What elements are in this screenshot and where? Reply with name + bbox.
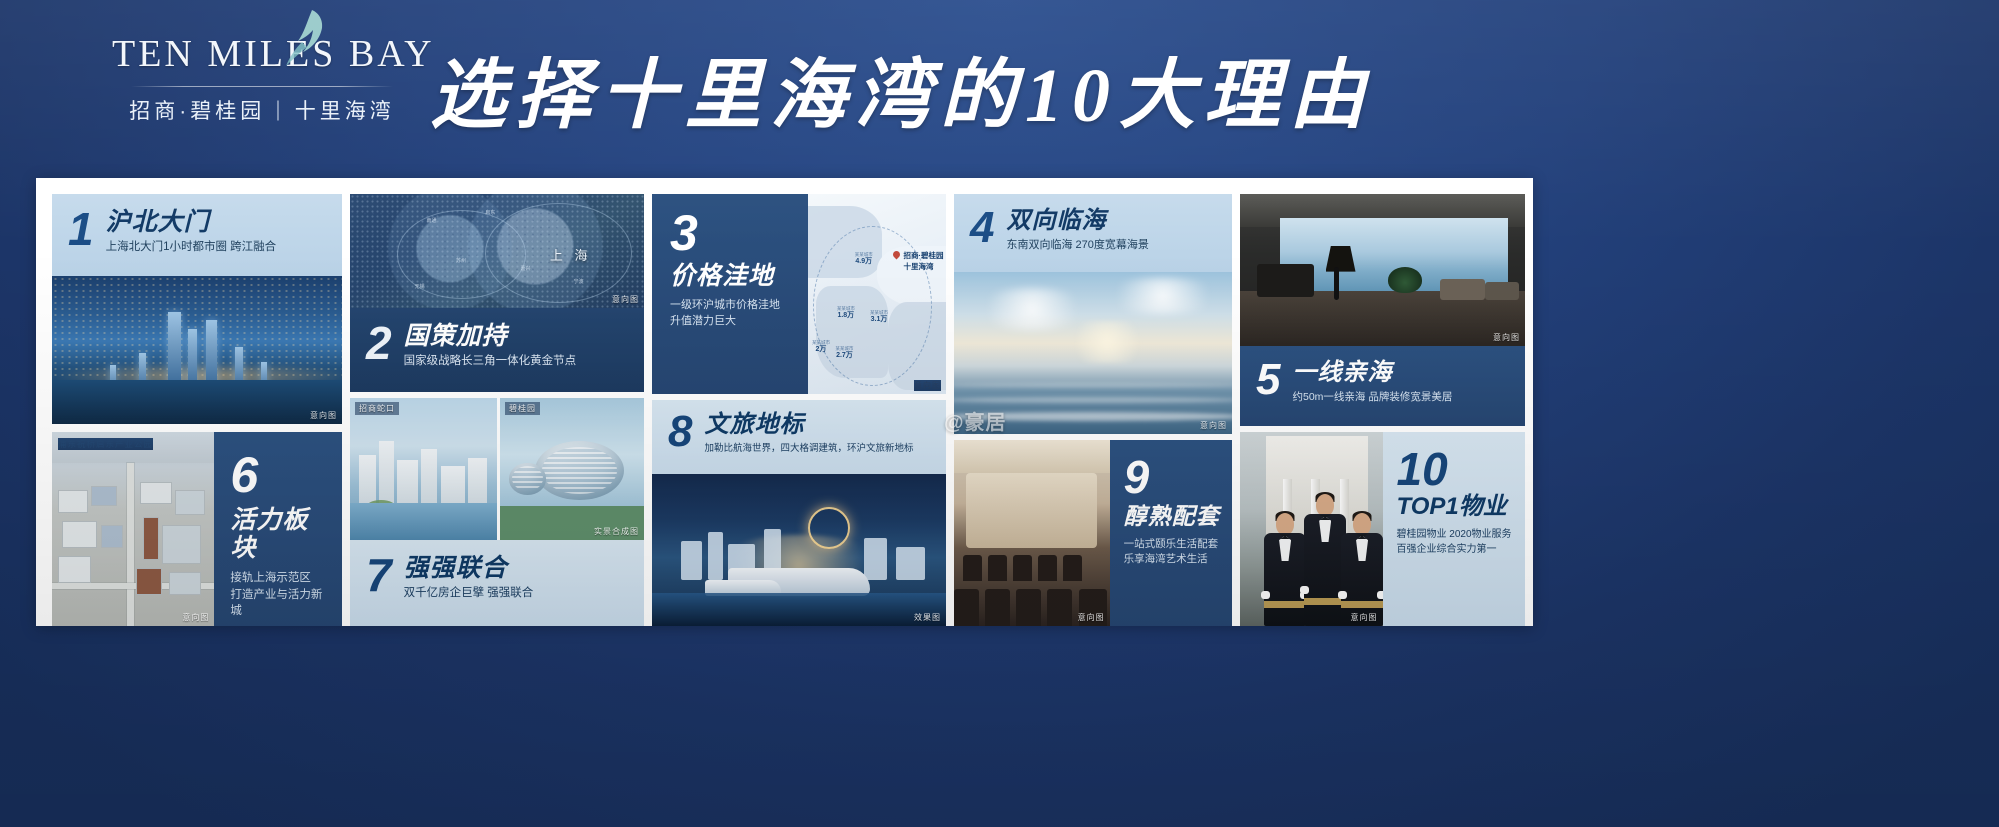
card-7-caption-right: 碧桂园 bbox=[505, 402, 540, 415]
card-1-title: 沪北大门 bbox=[106, 208, 277, 236]
card-2-panel: 2 国策加持 国家级战略长三角一体化黄金节点 bbox=[350, 308, 644, 392]
card-1[interactable]: 1 沪北大门 上海北大门1小时都市圈 跨江融合 bbox=[52, 194, 342, 424]
poster-header: TEN MILES BAY 招商·碧桂园 | 十里海湾 选择十里海湾的10大理由 bbox=[0, 0, 1999, 172]
card-4[interactable]: 4 双向临海 东南双向临海 270度宽幕海景 意向图 bbox=[954, 194, 1232, 434]
map-price-pin-4: 某某城市1.8万 bbox=[837, 306, 855, 320]
night-theme-park-render bbox=[652, 474, 946, 626]
card-9-subtitle-line-2: 乐享海湾艺术生活 bbox=[1124, 552, 1208, 567]
card-10-number: 10 bbox=[1397, 448, 1448, 490]
card-3-note: 意向图 bbox=[914, 380, 941, 391]
card-9-photo: 意向图 bbox=[954, 440, 1110, 626]
map-price-pin-1: 某某城市4.9万 bbox=[855, 252, 873, 266]
card-5-title: 一线亲海 bbox=[1292, 360, 1452, 387]
map-project-marker: 招商·碧桂园 十里海湾 bbox=[893, 250, 943, 272]
card-9-note: 意向图 bbox=[1078, 612, 1105, 623]
price-comparison-map: 招商·碧桂园 十里海湾 某某城市4.9万 某某城市3.1万 某某城市2.7万 bbox=[808, 194, 946, 394]
card-6-number: 6 bbox=[230, 452, 258, 498]
card-4-title: 双向临海 bbox=[1006, 208, 1148, 235]
card-3-subtitle-line-2: 升值潜力巨大 bbox=[670, 314, 736, 330]
sunrise-sea-photo bbox=[954, 272, 1232, 434]
card-5-photo: 意向图 bbox=[1240, 194, 1525, 346]
card-6[interactable]: 意向图 6 活力板块 接轨上海示范区 打造产业与活力新城 bbox=[52, 432, 342, 626]
card-8-subtitle: 加勒比航海世界，四大格调建筑，环沪文旅新地标 bbox=[704, 442, 913, 456]
auditorium-photo bbox=[954, 440, 1110, 626]
logo-separator: | bbox=[275, 98, 284, 122]
card-7-subtitle: 双千亿房企巨擘 强强联合 bbox=[404, 585, 534, 602]
card-6-panel: 6 活力板块 接轨上海示范区 打造产业与活力新城 bbox=[214, 432, 342, 626]
card-10-subtitle-line-1: 碧桂园物业 2020物业服务 bbox=[1397, 528, 1512, 543]
card-8-title: 文旅地标 bbox=[704, 412, 913, 439]
card-6-subtitle-line-1: 接轨上海示范区 bbox=[230, 570, 311, 587]
page-title: 选择十里海湾的10大理由 bbox=[430, 38, 1440, 138]
card-5-subtitle: 约50m一线亲海 品牌装修宽景美居 bbox=[1292, 390, 1452, 405]
card-2[interactable]: 上 海 南通 启东 苏州 嘉兴 宁波 无锡 意向图 2 国策加持 国家级战略长三… bbox=[350, 194, 644, 392]
card-10-note: 意向图 bbox=[1351, 612, 1378, 623]
card-4-panel: 4 双向临海 东南双向临海 270度宽幕海景 bbox=[954, 194, 1232, 272]
card-10-panel: 10 TOP1物业 碧桂园物业 2020物业服务 百强企业综合实力第一 bbox=[1383, 432, 1526, 626]
industrial-park-aerial bbox=[52, 432, 214, 626]
card-7-caption-left: 招商蛇口 bbox=[355, 402, 399, 415]
logo-divider bbox=[131, 86, 393, 87]
card-1-panel: 1 沪北大门 上海北大门1小时都市圈 跨江融合 bbox=[52, 194, 342, 276]
card-3[interactable]: 3 价格洼地 一级环沪城市价格洼地 升值潜力巨大 招商·碧桂园 十里海 bbox=[652, 194, 946, 394]
card-6-caption: 浦东祝桥启东产业公园 bbox=[58, 438, 153, 450]
cards-board: 1 沪北大门 上海北大门1小时都市圈 跨江融合 bbox=[36, 178, 1533, 626]
card-1-text: 沪北大门 上海北大门1小时都市圈 跨江融合 bbox=[106, 208, 277, 256]
card-2-title: 国策加持 bbox=[404, 322, 577, 350]
logo-developer-names: 招商·碧桂园 bbox=[129, 95, 265, 125]
card-3-subtitle-line-1: 一级环沪城市价格洼地 bbox=[670, 298, 780, 314]
card-4-number: 4 bbox=[970, 208, 994, 248]
card-7[interactable]: 招商蛇口 碧桂园 实景合成图 7 强强联合 bbox=[350, 398, 644, 626]
waterfront-render-right bbox=[500, 398, 644, 540]
card-9-panel: 9 醇熟配套 一站式颐乐生活配套 乐享海湾艺术生活 bbox=[1110, 440, 1232, 626]
card-3-photo: 招商·碧桂园 十里海湾 某某城市4.9万 某某城市3.1万 某某城市2.7万 bbox=[808, 194, 946, 394]
card-10-title: TOP1物业 bbox=[1397, 494, 1507, 521]
card-6-photo: 意向图 bbox=[52, 432, 214, 626]
card-3-number: 3 bbox=[670, 210, 698, 256]
card-4-photo: 意向图 bbox=[954, 272, 1232, 434]
card-8-photo: 效果图 bbox=[652, 474, 946, 626]
map-price-pin-5: 某某城市2万 bbox=[812, 340, 830, 354]
card-1-number: 1 bbox=[68, 208, 94, 250]
card-1-subtitle: 上海北大门1小时都市圈 跨江融合 bbox=[106, 239, 277, 256]
shanghai-skyline-photo bbox=[52, 276, 342, 424]
card-2-photo: 上 海 南通 启东 苏州 嘉兴 宁波 无锡 意向图 bbox=[350, 194, 644, 308]
card-9-subtitle-line-1: 一站式颐乐生活配套 bbox=[1124, 537, 1219, 552]
card-2-subtitle: 国家级战略长三角一体化黄金节点 bbox=[404, 353, 577, 370]
logo-english-text: TEN MILES BAY bbox=[112, 34, 412, 76]
cards-grid: 1 沪北大门 上海北大门1小时都市圈 跨江融合 bbox=[44, 186, 1525, 618]
card-4-subtitle: 东南双向临海 270度宽幕海景 bbox=[1006, 238, 1148, 254]
card-5-note: 意向图 bbox=[1493, 332, 1520, 343]
card-6-title: 活力板块 bbox=[230, 506, 332, 562]
card-10-photo: 意向图 bbox=[1240, 432, 1383, 626]
satellite-map-photo: 上 海 南通 启东 苏州 嘉兴 宁波 无锡 bbox=[350, 194, 644, 308]
card-7-photo: 招商蛇口 碧桂园 实景合成图 bbox=[350, 398, 644, 540]
map-price-pin-3: 某某城市2.7万 bbox=[835, 346, 853, 360]
satellite-city-label: 上 海 bbox=[550, 245, 592, 264]
waterfront-render-left bbox=[350, 398, 497, 540]
card-4-text: 双向临海 东南双向临海 270度宽幕海景 bbox=[1006, 208, 1148, 254]
map-price-pin-2: 某某城市3.1万 bbox=[870, 310, 888, 324]
card-2-note: 意向图 bbox=[612, 294, 639, 305]
card-7-number: 7 bbox=[366, 554, 392, 596]
card-9-number: 9 bbox=[1124, 456, 1150, 498]
card-7-title: 强强联合 bbox=[404, 554, 534, 582]
card-5-text: 一线亲海 约50m一线亲海 品牌装修宽景美居 bbox=[1292, 360, 1452, 405]
card-4-note: 意向图 bbox=[1200, 420, 1227, 431]
card-10[interactable]: 意向图 10 TOP1物业 碧桂园物业 2020物业服务 百强企业综合实力第一 bbox=[1240, 432, 1525, 626]
card-5-number: 5 bbox=[1256, 360, 1280, 400]
card-8[interactable]: 8 文旅地标 加勒比航海世界，四大格调建筑，环沪文旅新地标 bbox=[652, 400, 946, 626]
card-10-subtitle-line-2: 百强企业综合实力第一 bbox=[1397, 543, 1497, 558]
card-9-title: 醇熟配套 bbox=[1124, 504, 1220, 530]
card-8-text: 文旅地标 加勒比航海世界，四大格调建筑，环沪文旅新地标 bbox=[704, 412, 913, 456]
card-8-panel: 8 文旅地标 加勒比航海世界，四大格调建筑，环沪文旅新地标 bbox=[652, 400, 946, 474]
logo-project-name: 十里海湾 bbox=[295, 95, 395, 125]
logo-chinese-line: 招商·碧桂园 | 十里海湾 bbox=[112, 95, 412, 125]
card-6-note: 意向图 bbox=[182, 612, 209, 623]
card-3-panel: 3 价格洼地 一级环沪城市价格洼地 升值潜力巨大 bbox=[652, 194, 808, 394]
seaview-bedroom-photo bbox=[1240, 194, 1525, 346]
card-5[interactable]: 意向图 5 一线亲海 约50m一线亲海 品牌装修宽景美居 bbox=[1240, 194, 1525, 426]
butler-staff-photo bbox=[1240, 432, 1383, 626]
brand-logo: TEN MILES BAY 招商·碧桂园 | 十里海湾 bbox=[112, 34, 412, 125]
card-2-number: 2 bbox=[366, 322, 392, 364]
card-2-text: 国策加持 国家级战略长三角一体化黄金节点 bbox=[404, 322, 577, 370]
card-7-note: 实景合成图 bbox=[594, 526, 639, 537]
poster-root: TEN MILES BAY 招商·碧桂园 | 十里海湾 选择十里海湾的10大理由… bbox=[0, 0, 1999, 827]
card-8-note: 效果图 bbox=[914, 612, 941, 623]
card-1-photo: 意向图 bbox=[52, 276, 342, 424]
card-3-title: 价格洼地 bbox=[670, 262, 774, 290]
card-5-panel: 5 一线亲海 约50m一线亲海 品牌装修宽景美居 bbox=[1240, 346, 1525, 426]
card-9[interactable]: 意向图 9 醇熟配套 一站式颐乐生活配套 乐享海湾艺术生活 bbox=[954, 440, 1232, 626]
card-1-note: 意向图 bbox=[310, 410, 337, 421]
card-7-panel: 7 强强联合 双千亿房企巨擘 强强联合 bbox=[350, 540, 644, 626]
card-7-text: 强强联合 双千亿房企巨擘 强强联合 bbox=[404, 554, 534, 602]
card-8-number: 8 bbox=[668, 412, 692, 452]
card-6-subtitle-line-2: 打造产业与活力新城 bbox=[230, 587, 332, 620]
